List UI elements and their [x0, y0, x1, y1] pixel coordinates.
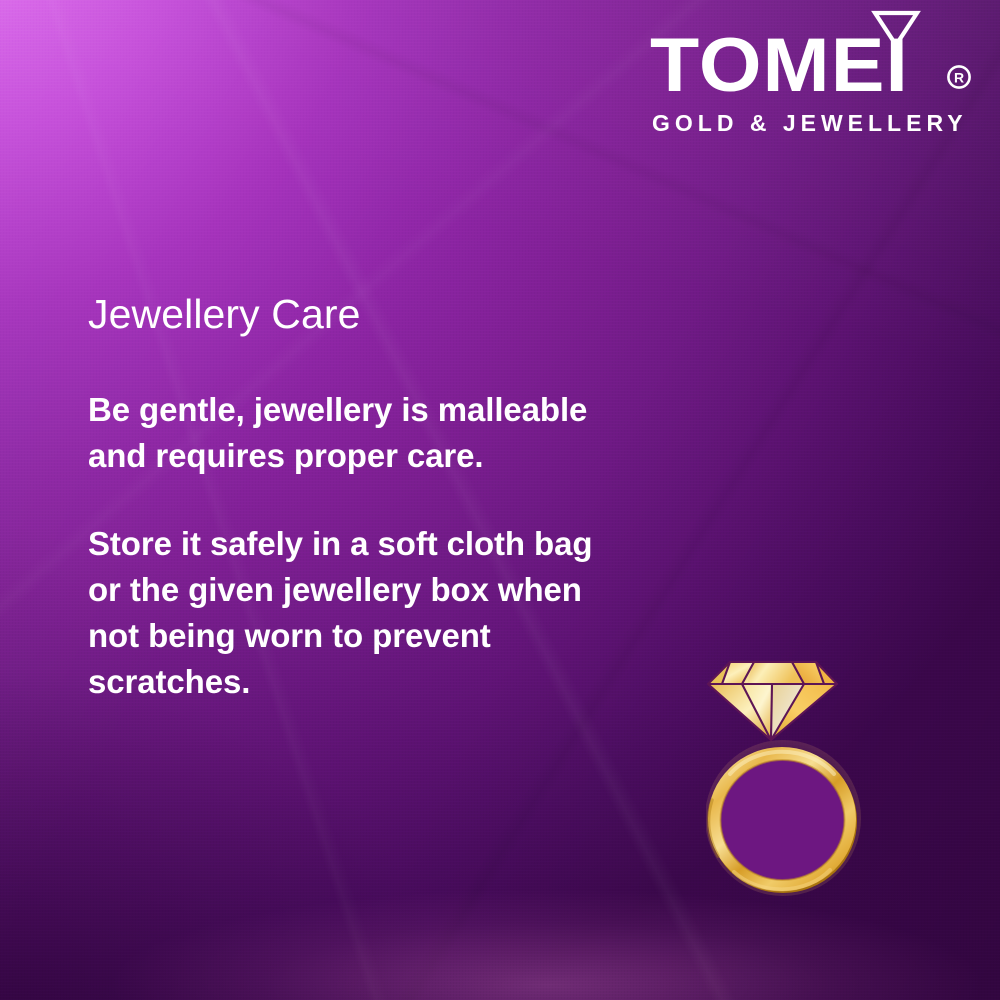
- brand-wordmark: TOMEI: [650, 28, 957, 104]
- copy-block: Jewellery Care Be gentle, jewellery is m…: [88, 288, 648, 705]
- gold-diamond-ring-illustration: [706, 650, 862, 898]
- body-paragraph-2: Store it safely in a soft cloth bag or t…: [88, 521, 633, 705]
- poster-canvas: TOMEI R GOLD & JEWELLERY Jewellery Care …: [0, 0, 1000, 1000]
- page-title: Jewellery Care: [88, 288, 648, 340]
- diamond-gem: [708, 662, 837, 740]
- svg-text:R: R: [954, 70, 964, 86]
- brand-tagline: GOLD & JEWELLERY: [652, 110, 972, 136]
- registered-trademark-icon: R: [946, 64, 972, 90]
- ring-band: [706, 740, 861, 896]
- body-paragraph-1: Be gentle, jewellery is malleable and re…: [88, 387, 633, 479]
- brand-logo: TOMEI R GOLD & JEWELLERY: [650, 6, 980, 142]
